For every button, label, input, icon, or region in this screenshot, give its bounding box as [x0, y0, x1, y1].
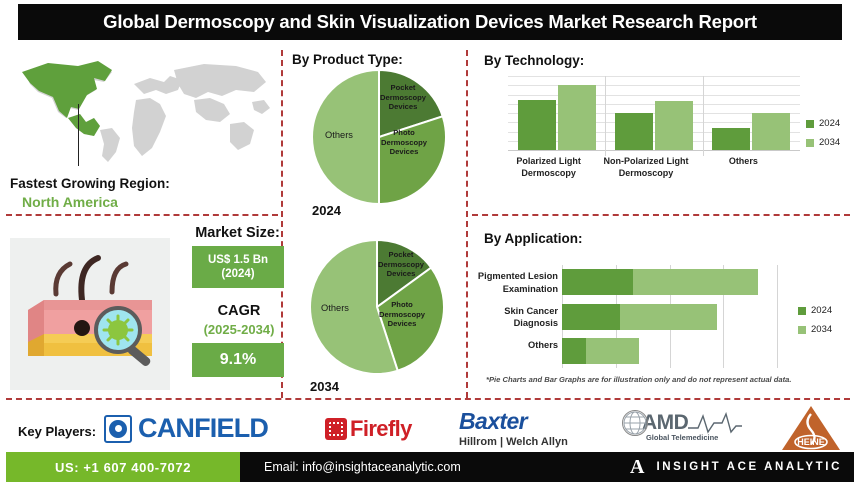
gridline: [777, 265, 778, 368]
bar-segment-2034: [633, 269, 758, 295]
market-size-value-badge: US$ 1.5 Bn (2024): [192, 246, 284, 288]
bar-segment-2024: [562, 304, 620, 330]
pie-2024-label-pocket: PocketDermoscopyDevices: [372, 83, 434, 112]
legend-swatch: [798, 307, 806, 315]
legend-swatch: [806, 120, 814, 128]
legend-swatch: [798, 326, 806, 334]
pie-2034-label-pocket: PocketDermoscopyDevices: [370, 250, 432, 279]
legend-item: 2034: [806, 137, 840, 148]
category-label: Polarized LightDermoscopy: [500, 156, 597, 179]
firefly-mark-icon: [325, 418, 347, 440]
pie-2034-label-others: Others: [314, 303, 356, 315]
firefly-logo-text: Firefly: [350, 416, 412, 442]
skin-layer-magnifier-icon: [10, 238, 170, 390]
divider-horizontal-left: [6, 214, 278, 216]
pie-2024-year: 2024: [312, 203, 341, 218]
amd-logo-text: AMD: [642, 411, 688, 435]
category-label: Skin CancerDiagnosis: [462, 305, 558, 330]
pie-2034-label-photo: PhotoDermoscopyDevices: [372, 300, 432, 329]
divider-horizontal-right: [472, 214, 850, 216]
bar-2024: [518, 100, 556, 150]
fastest-growing-region-label: Fastest Growing Region:: [10, 176, 170, 191]
legend-label: 2024: [819, 118, 840, 129]
firefly-logo: Firefly: [325, 416, 412, 442]
pie-2034-year: 2034: [310, 379, 339, 394]
application-chart-plot: [562, 265, 777, 368]
technology-chart-legend: 20242034: [806, 118, 840, 156]
page-title-bar: Global Dermoscopy and Skin Visualization…: [18, 4, 842, 40]
category-label: Others: [462, 339, 558, 352]
axis-line: [508, 150, 800, 151]
axis-tick: [703, 76, 704, 156]
application-title: By Application:: [484, 231, 583, 246]
pie-2024-label-photo: PhotoDermoscopyDevices: [374, 128, 434, 157]
amd-logo-subtext: Global Telemedicine: [646, 433, 718, 442]
bar-2034: [752, 113, 790, 150]
bar-row: [562, 269, 777, 295]
category-label: Non-Polarized LightDermoscopy: [597, 156, 694, 179]
baxter-logo-text: Baxter: [459, 408, 527, 435]
bar-segment-2034: [620, 304, 717, 330]
cagr-value: 9.1%: [220, 350, 256, 370]
globe-icon: [622, 410, 648, 436]
canfield-logo-text: CANFIELD: [138, 413, 268, 444]
heine-logo: HEINE: [780, 404, 842, 452]
footer-phone-badge[interactable]: US: +1 607 400-7072: [6, 452, 240, 482]
bar-segment-2034: [586, 338, 640, 364]
category-label: Others: [695, 156, 792, 168]
footer-bar: Email: info@insightaceanalytic.com A INS…: [240, 452, 854, 482]
canfield-logo: CANFIELD: [104, 413, 268, 444]
cagr-label: CAGR: [185, 303, 293, 319]
baxter-logo-subtext: Hillrom | Welch Allyn: [459, 436, 568, 448]
technology-title: By Technology:: [484, 53, 584, 68]
legend-swatch: [806, 139, 814, 147]
legend-label: 2034: [811, 324, 832, 335]
baxter-logo: Baxter Hillrom | Welch Allyn: [459, 408, 568, 448]
bar-2024: [712, 128, 750, 150]
category-label: Pigmented LesionExamination: [462, 270, 558, 295]
infographic-root: Global Dermoscopy and Skin Visualization…: [0, 0, 860, 484]
footer-brand: A INSIGHT ACE ANALYTIC: [630, 457, 842, 477]
fastest-growing-region-value: North America: [22, 194, 118, 210]
application-chart-categories: Pigmented LesionExaminationSkin CancerDi…: [462, 265, 558, 368]
legend-label: 2034: [819, 137, 840, 148]
page-title: Global Dermoscopy and Skin Visualization…: [103, 11, 757, 33]
technology-chart-categories: Polarized LightDermoscopyNon-Polarized L…: [500, 154, 806, 182]
bar-2034: [655, 101, 693, 150]
legend-label: 2024: [811, 305, 832, 316]
bar-row: [562, 338, 777, 364]
insight-ace-mark-icon: A: [630, 457, 644, 477]
world-map-icon: [8, 52, 276, 172]
market-size-label: Market Size:: [185, 225, 290, 241]
amd-logo: AMD Global Telemedicine: [622, 410, 742, 442]
legend-item: 2024: [806, 118, 840, 129]
legend-item: 2034: [798, 324, 832, 335]
canfield-mark-icon: [104, 415, 132, 443]
technology-chart-plot: [508, 76, 800, 150]
bar-segment-2024: [562, 269, 633, 295]
svg-text:HEINE: HEINE: [797, 437, 825, 447]
pie-2024-label-others: Others: [318, 130, 360, 142]
gridline: [508, 85, 800, 86]
cagr-value-badge: 9.1%: [192, 343, 284, 377]
divider-horizontal-bottom: [6, 398, 850, 400]
product-type-title: By Product Type:: [292, 52, 403, 67]
market-size-value-line2: (2024): [221, 267, 254, 281]
bar-2024: [615, 113, 653, 150]
ecg-wave-icon: [688, 412, 742, 434]
bar-segment-2024: [562, 338, 586, 364]
gridline: [508, 95, 800, 96]
bar-row: [562, 304, 777, 330]
map-pointer-line: [78, 104, 79, 166]
footer-brand-text: INSIGHT ACE ANALYTIC: [656, 461, 842, 473]
legend-item: 2024: [798, 305, 832, 316]
market-size-value-line1: US$ 1.5 Bn: [208, 253, 268, 267]
gridline: [508, 76, 800, 77]
application-chart-legend: 20242034: [798, 305, 832, 343]
key-players-label: Key Players:: [18, 424, 96, 439]
cagr-years: (2025-2034): [185, 322, 293, 337]
axis-tick: [605, 76, 606, 156]
footer-phone: US: +1 607 400-7072: [55, 460, 191, 475]
chart-disclaimer-note: *Pie Charts and Bar Graphs are for illus…: [486, 375, 826, 384]
bar-2034: [558, 85, 596, 150]
footer-email[interactable]: Email: info@insightaceanalytic.com: [264, 460, 461, 474]
